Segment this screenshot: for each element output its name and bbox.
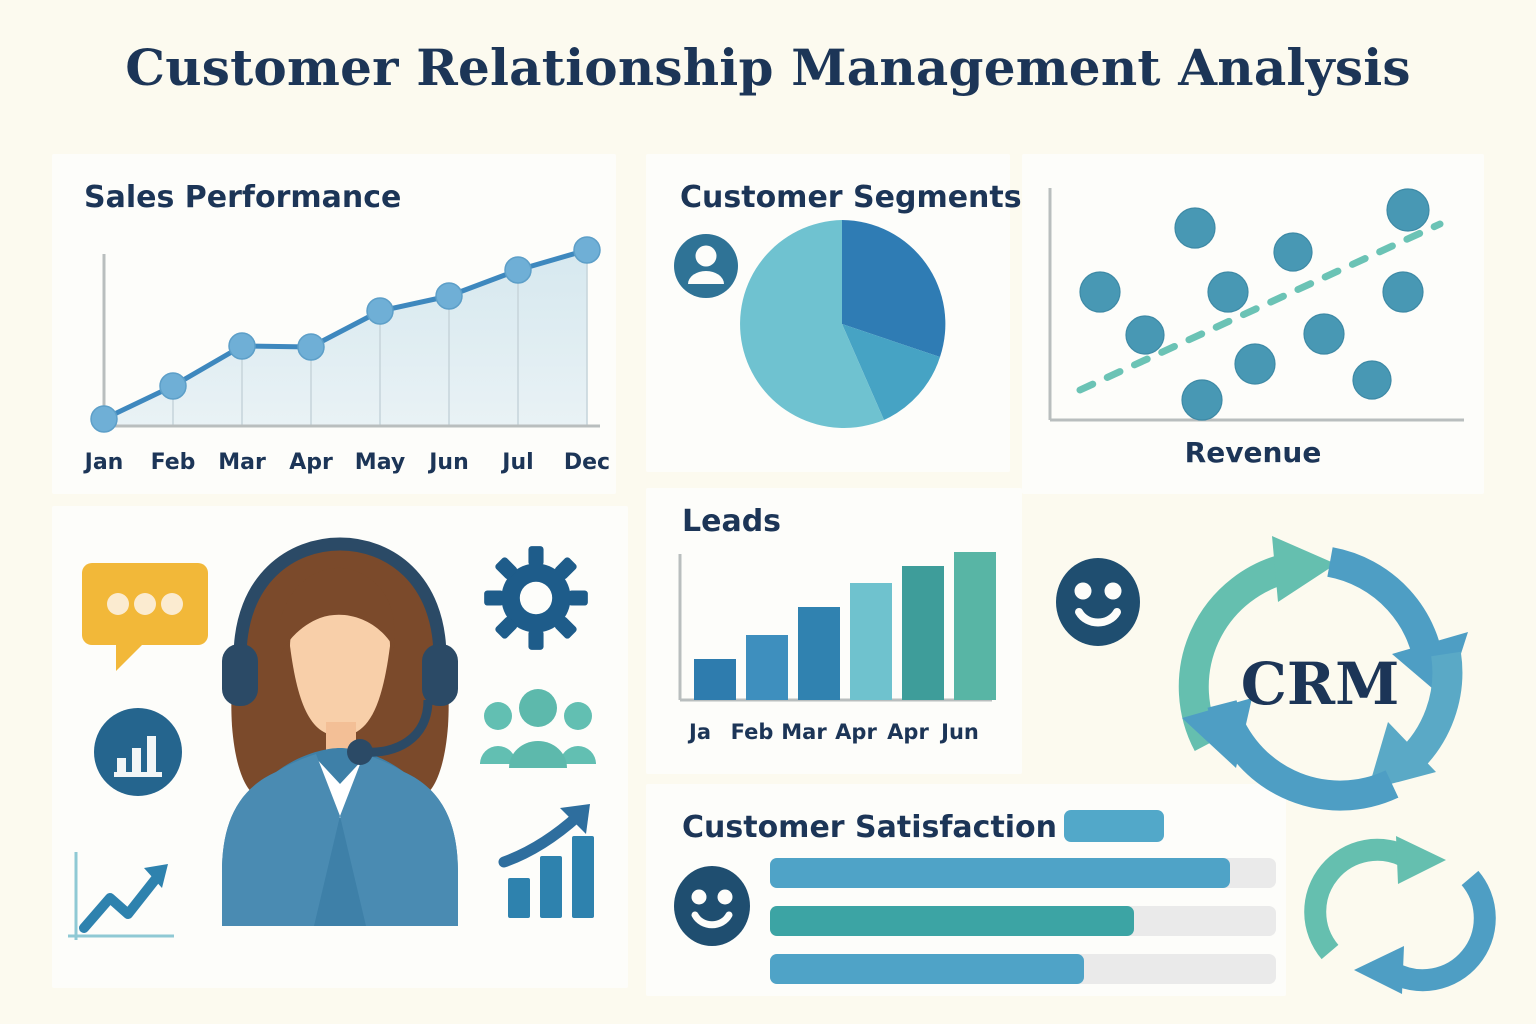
leads-title: Leads: [682, 504, 781, 539]
customer-satisfaction-title: Customer Satisfaction: [682, 810, 1057, 845]
leads-card: Leads Ja Feb Mar Apr Apr Jun: [646, 488, 1022, 774]
sales-performance-title: Sales Performance: [84, 180, 401, 215]
scatter-points: [1080, 189, 1429, 420]
sales-xtick-5: Jun: [414, 450, 484, 475]
revenue-axis-label: Revenue: [1022, 436, 1484, 469]
revenue-scatter-chart: [1040, 182, 1470, 442]
sales-performance-chart: [66, 214, 606, 454]
sales-xtick-0: Jan: [69, 450, 139, 475]
support-agent-icon: [180, 526, 500, 946]
smiley-face-icon: [670, 864, 754, 948]
customer-segments-card: Customer Segments: [646, 154, 1010, 472]
sales-xtick-6: Jul: [483, 450, 553, 475]
page-title: Customer Relationship Management Analysi…: [0, 38, 1536, 97]
line-trend-icon: [62, 836, 198, 960]
leads-bar-chart: [670, 550, 1000, 718]
crm-cycle-card: CRM: [1030, 512, 1500, 996]
sales-xtick-4: May: [345, 450, 415, 475]
support-agent-card: [52, 506, 628, 988]
growth-chart-icon: [492, 802, 612, 924]
refresh-cycle-icon: [1300, 830, 1500, 1000]
revenue-scatter-card: Revenue: [1022, 154, 1484, 494]
sales-xtick-7: Dec: [552, 450, 622, 475]
customer-segments-title: Customer Segments: [680, 180, 1022, 215]
sales-xtick-1: Feb: [138, 450, 208, 475]
crm-label: CRM: [1195, 650, 1445, 718]
sales-performance-card: Sales Performance: [52, 154, 616, 494]
leads-xtick-5: Jun: [929, 720, 991, 744]
bar-chart-circle-icon: [92, 706, 184, 798]
sales-xtick-2: Mar: [207, 450, 277, 475]
customer-segments-pie-chart: [734, 216, 950, 432]
leads-bars: [694, 552, 996, 700]
infographic-page: Customer Relationship Management Analysi…: [0, 0, 1536, 1024]
sales-xtick-3: Apr: [276, 450, 346, 475]
